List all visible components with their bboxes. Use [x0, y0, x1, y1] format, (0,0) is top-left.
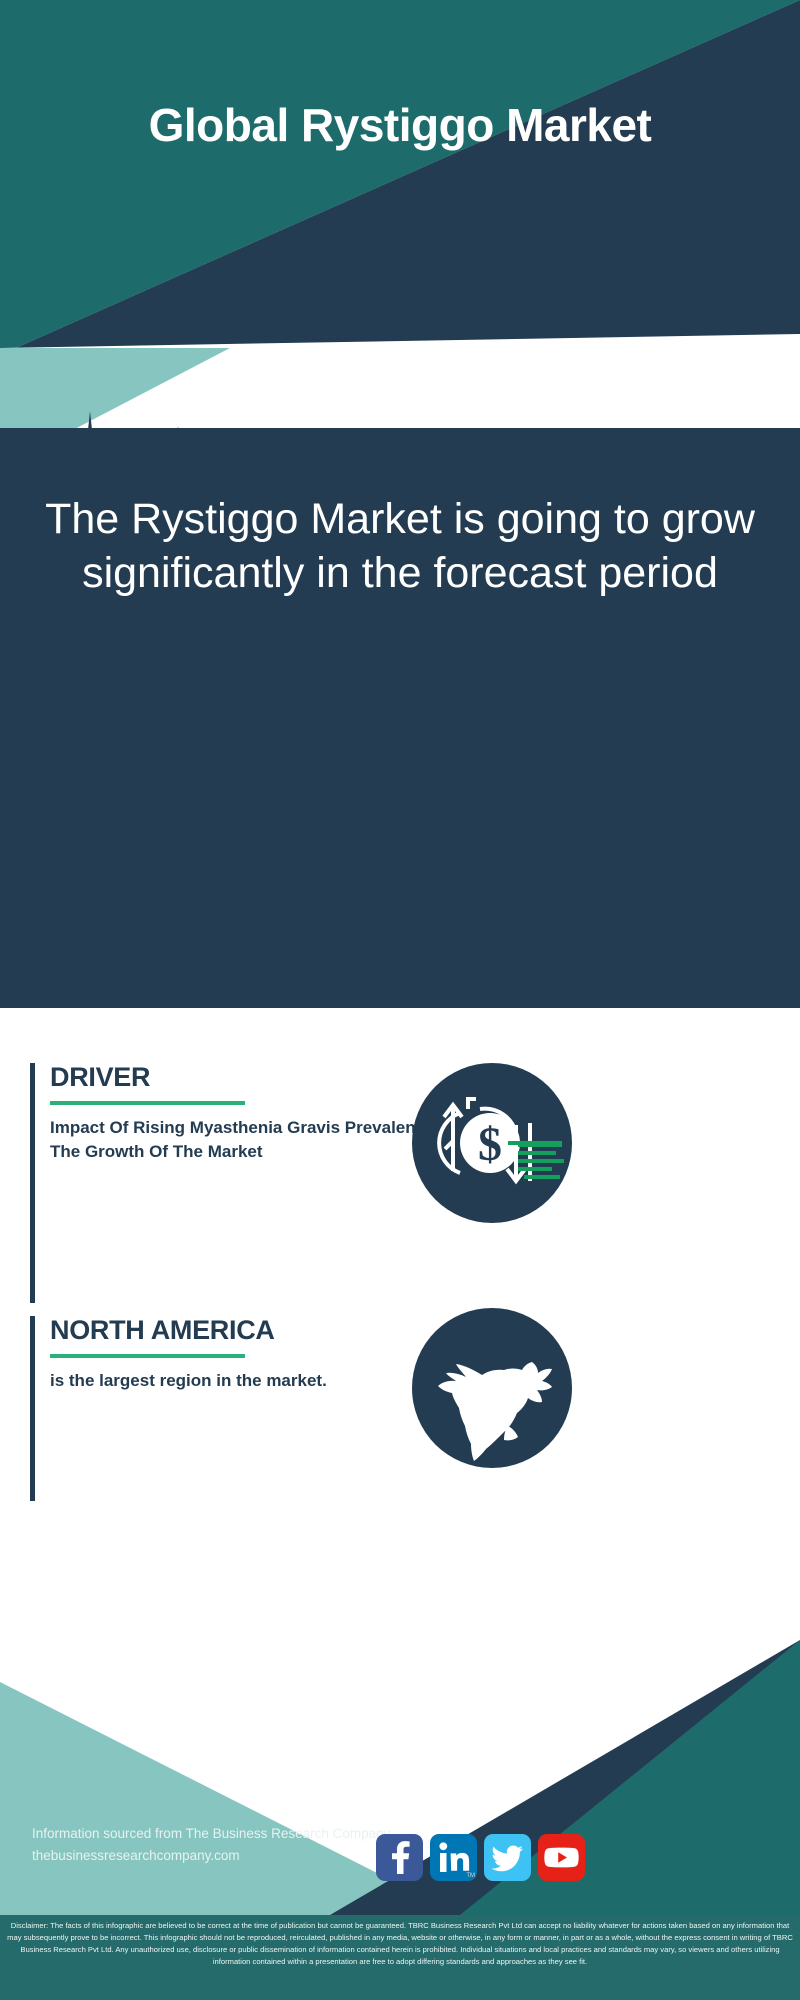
dollar-growth-icon: $	[412, 1063, 572, 1223]
fact-accent-bar	[30, 1063, 35, 1303]
city-skyline-icon	[0, 408, 800, 493]
hero-band: The Rystiggo Market is going to grow sig…	[0, 348, 800, 1008]
linkedin-icon[interactable]: TM	[430, 1834, 477, 1881]
youtube-icon[interactable]	[538, 1834, 585, 1881]
twitter-icon[interactable]	[484, 1834, 531, 1881]
infographic-page: Global Rystiggo Market The Rystiggo Mark…	[0, 0, 800, 2000]
trademark-label: TM	[466, 1873, 475, 1879]
footer-source-line: Information sourced from The Business Re…	[32, 1823, 390, 1845]
footer-source-text: Information sourced from The Business Re…	[32, 1823, 390, 1867]
page-title: Global Rystiggo Market	[0, 98, 800, 152]
facts-section: DRIVER Impact Of Rising Myasthenia Gravi…	[0, 1008, 800, 1620]
disclaimer-text: Disclaimer: The facts of this infographi…	[0, 1915, 800, 2000]
fact-underline	[50, 1101, 245, 1105]
footer-website[interactable]: thebusinessresearchcompany.com	[32, 1845, 390, 1867]
fact-underline	[50, 1354, 245, 1358]
north-america-map-icon	[412, 1308, 572, 1468]
header-banner	[0, 0, 800, 355]
social-links: TM	[376, 1834, 585, 1881]
facebook-icon[interactable]	[376, 1834, 423, 1881]
svg-text:$: $	[478, 1118, 502, 1171]
fact-accent-bar	[30, 1316, 35, 1501]
hero-tagline: The Rystiggo Market is going to grow sig…	[40, 493, 760, 601]
